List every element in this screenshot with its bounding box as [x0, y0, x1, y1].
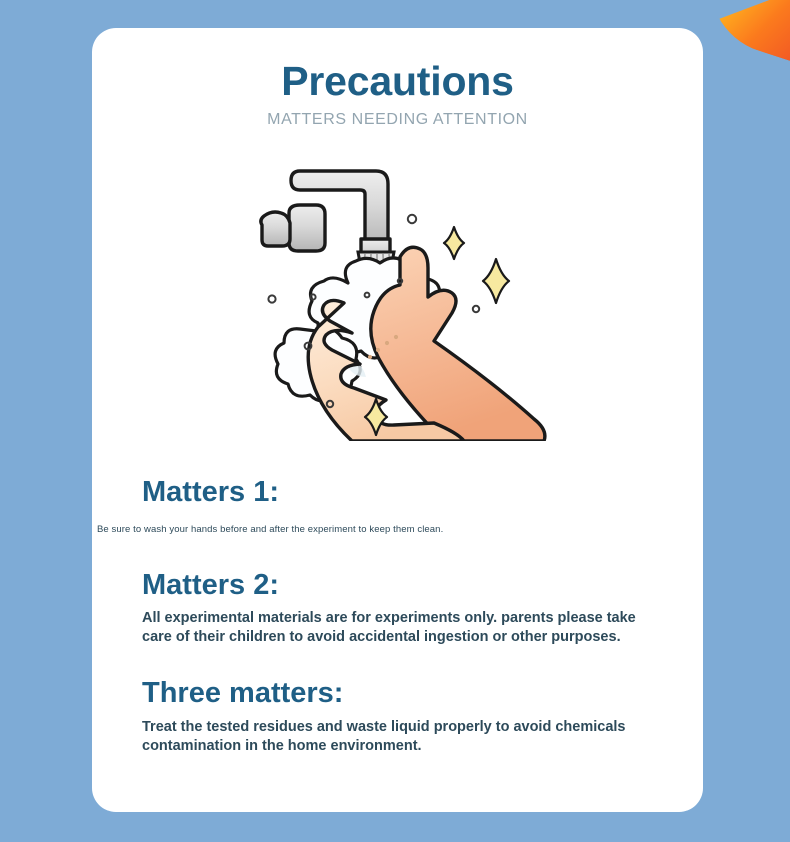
faucet-icon	[260, 171, 393, 268]
page-title: Precautions	[92, 58, 703, 105]
section-2-body: All experimental materials are for exper…	[92, 609, 703, 647]
card-header: Precautions MATTERS NEEDING ATTENTION	[92, 28, 703, 129]
section-2-heading: Matters 2:	[92, 568, 703, 603]
section-1-heading: Matters 1:	[92, 475, 703, 510]
section-3-heading: Three matters:	[92, 676, 703, 711]
corner-accent-wedge	[692, 0, 790, 66]
handwashing-illustration	[248, 151, 548, 441]
section-3-body: Treat the tested residues and waste liqu…	[92, 718, 703, 756]
section-matters-2: Matters 2: All experimental materials ar…	[92, 568, 703, 647]
page-subtitle: MATTERS NEEDING ATTENTION	[92, 111, 703, 129]
precautions-content: Matters 1: Be sure to wash your hands be…	[92, 475, 703, 756]
section-matters-1: Matters 1: Be sure to wash your hands be…	[92, 475, 703, 536]
corner-decoration	[692, 0, 790, 66]
precautions-card: Precautions MATTERS NEEDING ATTENTION	[92, 28, 703, 812]
section-1-body: Be sure to wash your hands before and af…	[92, 524, 703, 537]
section-three-matters: Three matters: Treat the tested residues…	[92, 676, 703, 757]
